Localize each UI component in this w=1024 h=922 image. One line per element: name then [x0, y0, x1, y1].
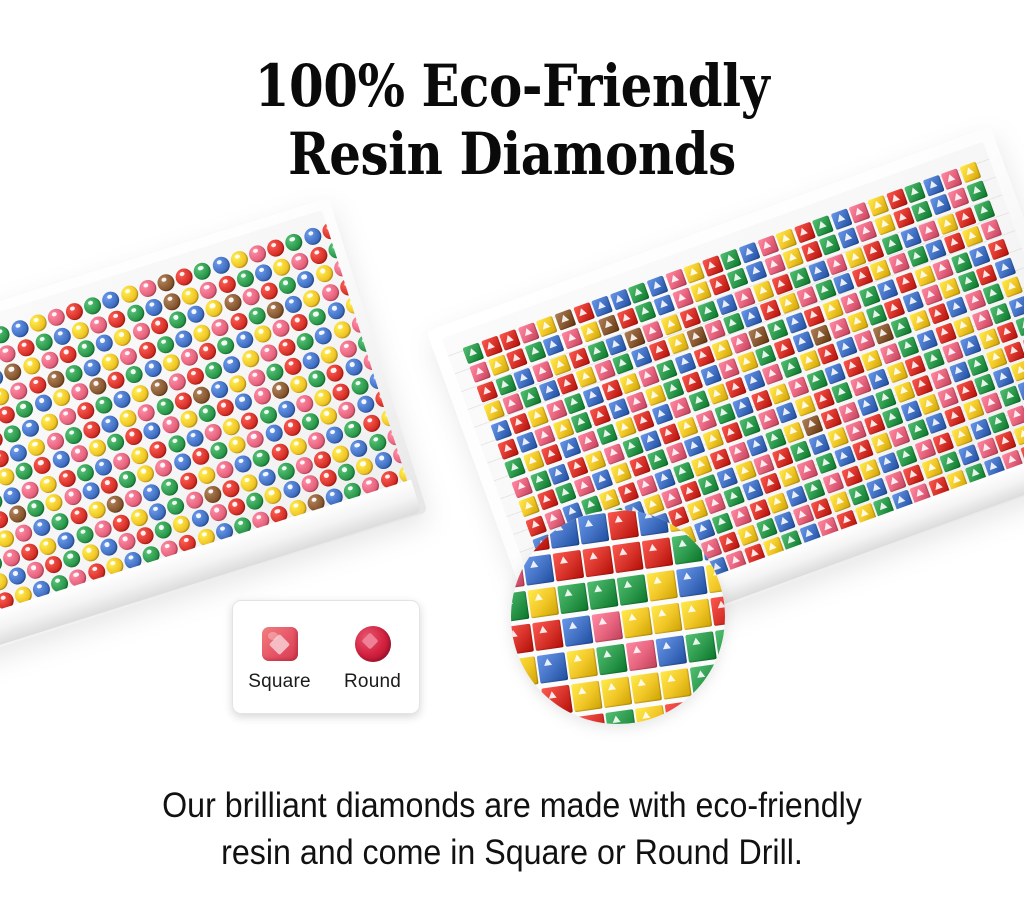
drill-bead: [361, 413, 382, 434]
drill-bead: [603, 443, 625, 465]
drill-bead: [866, 304, 888, 326]
drill-bead: [80, 481, 101, 502]
drill-bead: [838, 228, 860, 250]
drill-bead: [245, 429, 266, 450]
drill-bead: [785, 312, 807, 334]
drill-bead: [184, 427, 205, 448]
drill-bead: [988, 411, 1010, 433]
drill-bead: [80, 542, 101, 563]
drill-bead: [980, 219, 1002, 241]
drill-bead: [958, 271, 980, 293]
drill-bead: [850, 375, 872, 397]
drill-bead: [566, 456, 588, 478]
drill-bead: [121, 611, 142, 632]
drill-bead: [776, 402, 798, 424]
drill-bead: [778, 466, 800, 488]
drill-bead: [44, 492, 65, 513]
drill-bead: [935, 322, 957, 344]
drill-bead: [884, 297, 906, 319]
drill-bead: [165, 495, 186, 516]
drill-bead: [251, 447, 272, 468]
drill-bead: [973, 200, 995, 222]
drill-bead: [488, 355, 510, 377]
drill-bead: [972, 309, 994, 331]
drill-bead: [700, 364, 722, 386]
drill-bead: [0, 324, 12, 345]
drill-bead: [38, 412, 59, 433]
drill-bead: [852, 266, 874, 288]
drill-bead: [575, 366, 597, 388]
drill-bead: [208, 440, 229, 461]
drill-bead: [905, 355, 927, 377]
drill-bead: [985, 347, 1007, 369]
drill-bead: [615, 417, 637, 439]
drill-bead: [939, 277, 961, 299]
drill-bead: [318, 406, 339, 427]
drill-bead: [879, 342, 901, 364]
drill-bead: [960, 335, 982, 357]
drill-bead: [63, 363, 84, 384]
drill-bead: [937, 213, 959, 235]
title-line-1: 100% Eco-Friendly: [72, 52, 953, 120]
drill-bead: [582, 546, 614, 578]
drill-bead: [679, 480, 701, 502]
drill-bead: [227, 434, 248, 455]
drill-bead: [792, 331, 814, 353]
drill-bead: [580, 321, 602, 343]
drill-bead: [385, 426, 406, 447]
drill-bead: [155, 334, 176, 355]
drill-bead: [870, 259, 892, 281]
drill-bead: [573, 302, 595, 324]
drill-bead: [737, 524, 759, 546]
drill-shape-legend: Square Round: [232, 600, 420, 714]
drill-bead: [610, 462, 632, 484]
drill-bead: [214, 459, 235, 480]
drill-bead: [135, 525, 156, 546]
drill-bead: [105, 432, 126, 453]
drill-bead: [174, 266, 195, 287]
drill-bead: [925, 239, 947, 261]
drill-bead: [135, 463, 156, 484]
drill-bead: [629, 455, 651, 477]
drill-bead: [622, 436, 644, 458]
drill-bead: [367, 370, 388, 391]
drill-bead: [702, 429, 724, 451]
drill-bead: [815, 279, 837, 301]
drill-bead: [116, 531, 137, 552]
drill-bead: [640, 430, 662, 452]
drill-bead: [666, 442, 688, 464]
drill-bead: [306, 430, 327, 451]
drill-bead: [99, 475, 120, 496]
drill-bead: [264, 361, 285, 382]
drill-bead: [301, 288, 322, 309]
drill-bead: [587, 340, 609, 362]
drill-bead: [185, 304, 206, 325]
drill-bead: [794, 395, 816, 417]
drill-bead: [202, 483, 223, 504]
drill-bead: [118, 345, 139, 366]
drill-bead: [840, 292, 862, 314]
drill-bead: [992, 366, 1014, 388]
drill-bead: [555, 482, 577, 504]
drill-bead: [955, 206, 977, 228]
drill-bead: [61, 548, 82, 569]
drill-bead: [665, 701, 697, 724]
legend-item-square: Square: [233, 621, 326, 693]
drill-bead: [32, 455, 53, 476]
drill-bead: [967, 354, 989, 376]
drill-bead: [330, 443, 351, 464]
drill-bead: [265, 237, 286, 258]
drill-bead: [605, 334, 627, 356]
drill-bead: [914, 265, 936, 287]
square-gem-icon: [262, 621, 298, 667]
drill-bead: [953, 316, 975, 338]
drill-bead: [282, 417, 303, 438]
drill-bead: [233, 391, 254, 412]
drill-bead: [512, 689, 544, 721]
drill-bead: [787, 376, 809, 398]
drill-bead: [749, 499, 771, 521]
drill-bead: [859, 458, 881, 480]
drill-bead: [527, 406, 549, 428]
drill-bead: [312, 449, 333, 470]
drill-bead: [299, 473, 320, 494]
drill-bead: [707, 384, 729, 406]
drill-bead: [573, 476, 595, 498]
drill-bead: [637, 510, 669, 536]
drill-bead: [859, 285, 881, 307]
drill-bead: [698, 474, 720, 496]
drill-bead: [721, 422, 743, 444]
drill-bead: [928, 303, 950, 325]
drill-bead: [0, 343, 18, 364]
drill-bead: [27, 374, 48, 395]
drill-bead: [596, 644, 628, 676]
drill-bead: [631, 346, 653, 368]
drill-bead: [987, 238, 1009, 260]
drill-bead: [702, 255, 724, 277]
drill-bead: [158, 600, 179, 621]
drill-bead: [110, 512, 131, 533]
drill-bead: [270, 318, 291, 339]
drill-bead: [817, 343, 839, 365]
drill-bead: [813, 388, 835, 410]
drill-bead: [154, 396, 175, 417]
drill-bead: [659, 423, 681, 445]
drill-bead: [841, 465, 863, 487]
title-line-2: Resin Diamonds: [72, 120, 953, 188]
drill-bead: [372, 450, 393, 471]
drill-bead: [161, 291, 182, 312]
drill-bead: [75, 400, 96, 421]
drill-bead: [958, 444, 980, 466]
drill-bead: [537, 652, 569, 684]
drill-bead: [1, 547, 22, 568]
drill-bead: [141, 482, 162, 503]
drill-bead: [39, 350, 60, 371]
drill-bead: [137, 278, 158, 299]
drill-bead: [877, 278, 899, 300]
drill-bead: [341, 542, 362, 563]
drill-bead: [88, 314, 109, 335]
drill-bead: [204, 298, 225, 319]
drill-bead: [361, 351, 382, 372]
drill-bead: [836, 337, 858, 359]
drill-bead: [518, 521, 550, 553]
drill-bead: [0, 466, 17, 487]
drill-bead: [208, 502, 229, 523]
drill-bead: [720, 249, 742, 271]
drill-bead: [289, 312, 310, 333]
drill-bead: [944, 232, 966, 254]
drill-bead: [592, 469, 614, 491]
drill-bead: [652, 404, 674, 426]
legend-label-square: Square: [248, 671, 310, 693]
drill-bead: [990, 302, 1012, 324]
drill-bead: [331, 381, 352, 402]
drill-bead: [863, 240, 885, 262]
drill-bead: [857, 394, 879, 416]
drill-bead: [642, 320, 664, 342]
drill-bead: [630, 672, 662, 704]
drill-bead: [123, 426, 144, 447]
drill-bead: [171, 514, 192, 535]
drill-bead: [233, 453, 254, 474]
drill-bead: [963, 399, 985, 421]
drill-bead: [557, 373, 579, 395]
drill-bead: [189, 508, 210, 529]
drill-bead: [898, 336, 920, 358]
drill-bead: [949, 361, 971, 383]
drill-bead: [76, 338, 97, 359]
drill-bead: [543, 335, 565, 357]
drill-bead: [647, 449, 669, 471]
drill-bead: [895, 272, 917, 294]
drill-bead: [755, 344, 777, 366]
drill-bead: [893, 207, 915, 229]
drill-bead: [727, 268, 749, 290]
drill-bead: [94, 333, 115, 354]
drill-bead: [831, 382, 853, 404]
drill-bead: [295, 269, 316, 290]
drill-bead: [153, 519, 174, 540]
drill-bead: [918, 220, 940, 242]
round-drill-tray: [0, 197, 428, 668]
drill-bead: [864, 413, 886, 435]
drill-bead: [546, 717, 578, 724]
drill-bead: [349, 314, 370, 335]
drill-bead: [874, 214, 896, 236]
drill-bead: [681, 371, 703, 393]
drill-bead: [672, 461, 694, 483]
drill-bead: [111, 450, 132, 471]
drill-bead: [783, 421, 805, 443]
drill-bead: [716, 467, 738, 489]
drill-bead: [130, 383, 151, 404]
drill-bead: [250, 571, 271, 592]
drill-bead: [827, 427, 849, 449]
drill-bead: [359, 536, 380, 557]
drill-bead: [238, 472, 259, 493]
drill-bead: [155, 272, 176, 293]
drill-bead: [911, 201, 933, 223]
drill-bead: [161, 353, 182, 374]
drill-bead: [667, 333, 689, 355]
drill-bead: [782, 248, 804, 270]
drill-bead: [220, 478, 241, 499]
drill-bead: [304, 554, 325, 575]
drill-bead: [612, 542, 644, 574]
drill-bead: [136, 401, 157, 422]
drill-bead: [13, 522, 34, 543]
drill-bead: [160, 414, 181, 435]
drill-bead: [714, 403, 736, 425]
drill-bead: [903, 464, 925, 486]
drill-bead: [808, 433, 830, 455]
drill-bead: [742, 479, 764, 501]
drill-bead: [234, 330, 255, 351]
drill-bead: [709, 448, 731, 470]
drill-bead: [307, 306, 328, 327]
drill-bead: [514, 510, 546, 520]
drill-bead: [251, 386, 272, 407]
drill-bead: [746, 434, 768, 456]
drill-bead: [803, 305, 825, 327]
drill-bead: [660, 314, 682, 336]
drill-bead: [513, 367, 535, 389]
drill-bead: [9, 318, 30, 339]
drill-bead: [530, 470, 552, 492]
drill-bead: [587, 578, 619, 610]
drill-bead: [578, 431, 600, 453]
drill-bead: [19, 541, 40, 562]
drill-bead: [694, 697, 725, 724]
drill-bead: [100, 289, 121, 310]
drill-bead: [730, 332, 752, 354]
drill-bead: [948, 187, 970, 209]
drill-bead: [348, 437, 369, 458]
drill-bead: [2, 361, 23, 382]
drill-bead: [739, 415, 761, 437]
drill-bead: [568, 347, 590, 369]
drill-bead: [976, 264, 998, 286]
drill-bead: [318, 467, 339, 488]
drill-bead: [663, 378, 685, 400]
drill-bead: [319, 344, 340, 365]
drill-bead: [685, 631, 717, 663]
drill-bead: [979, 328, 1001, 350]
drill-bead: [792, 504, 814, 526]
drill-bead: [379, 407, 400, 428]
drill-bead: [142, 420, 163, 441]
drill-bead: [240, 348, 261, 369]
drill-bead: [306, 368, 327, 389]
caption-line-2: resin and come in Square or Round Drill.: [41, 829, 983, 876]
drill-bead: [601, 379, 623, 401]
drill-bead: [129, 506, 150, 527]
drill-bead: [44, 430, 65, 451]
drill-bead: [900, 227, 922, 249]
drill-bead: [709, 274, 731, 296]
drill-bead: [891, 317, 913, 339]
drill-bead: [215, 397, 236, 418]
drill-bead: [690, 281, 712, 303]
drill-bead: [671, 533, 703, 565]
drill-bead: [718, 358, 740, 380]
drill-bead: [50, 511, 71, 532]
drill-bead: [68, 443, 89, 464]
drill-bead: [617, 308, 639, 330]
drill-bead: [626, 391, 648, 413]
drill-bead: [246, 305, 267, 326]
drill-bead: [46, 307, 67, 328]
drill-bead: [215, 335, 236, 356]
drill-bead: [969, 245, 991, 267]
drill-bead: [541, 444, 563, 466]
drill-bead: [571, 411, 593, 433]
drill-bead: [834, 446, 856, 468]
drill-bead: [252, 324, 273, 345]
drill-bead: [660, 668, 692, 700]
drill-bead: [178, 409, 199, 430]
drill-bead: [799, 350, 821, 372]
drill-bead: [635, 301, 657, 323]
drill-bead: [801, 414, 823, 436]
drill-bead: [797, 459, 819, 481]
drill-bead: [20, 417, 41, 438]
drill-bead: [33, 331, 54, 352]
drill-bead: [283, 232, 304, 253]
drill-bead: [246, 367, 267, 388]
drill-bead: [561, 328, 583, 350]
drill-bead: [8, 442, 29, 463]
drill-bead: [26, 436, 47, 457]
drill-bead: [130, 321, 151, 342]
drill-bead: [760, 473, 782, 495]
drill-bead: [589, 405, 611, 427]
drill-bead: [612, 353, 634, 375]
drill-bead: [176, 594, 197, 615]
drill-bead: [780, 357, 802, 379]
drill-bead: [758, 409, 780, 431]
drill-bead: [811, 498, 833, 520]
drill-bead: [695, 409, 717, 431]
drill-bead: [767, 492, 789, 514]
drill-bead: [197, 403, 218, 424]
drill-bead: [136, 340, 157, 361]
drill-bead: [117, 407, 138, 428]
drill-bead: [213, 583, 234, 604]
drill-bead: [553, 550, 585, 582]
drill-bead: [172, 390, 193, 411]
drill-bead: [325, 301, 346, 322]
drill-bead: [74, 524, 95, 545]
drill-bead: [534, 425, 556, 447]
drill-bead: [320, 220, 341, 241]
drill-bead: [81, 419, 102, 440]
drill-bead: [282, 355, 303, 376]
drill-bead: [760, 299, 782, 321]
drill-bead: [838, 401, 860, 423]
drill-bead: [511, 591, 529, 623]
drill-bead: [532, 361, 554, 383]
drill-bead: [125, 302, 146, 323]
drill-bead: [1008, 296, 1024, 318]
drill-bead: [636, 475, 658, 497]
